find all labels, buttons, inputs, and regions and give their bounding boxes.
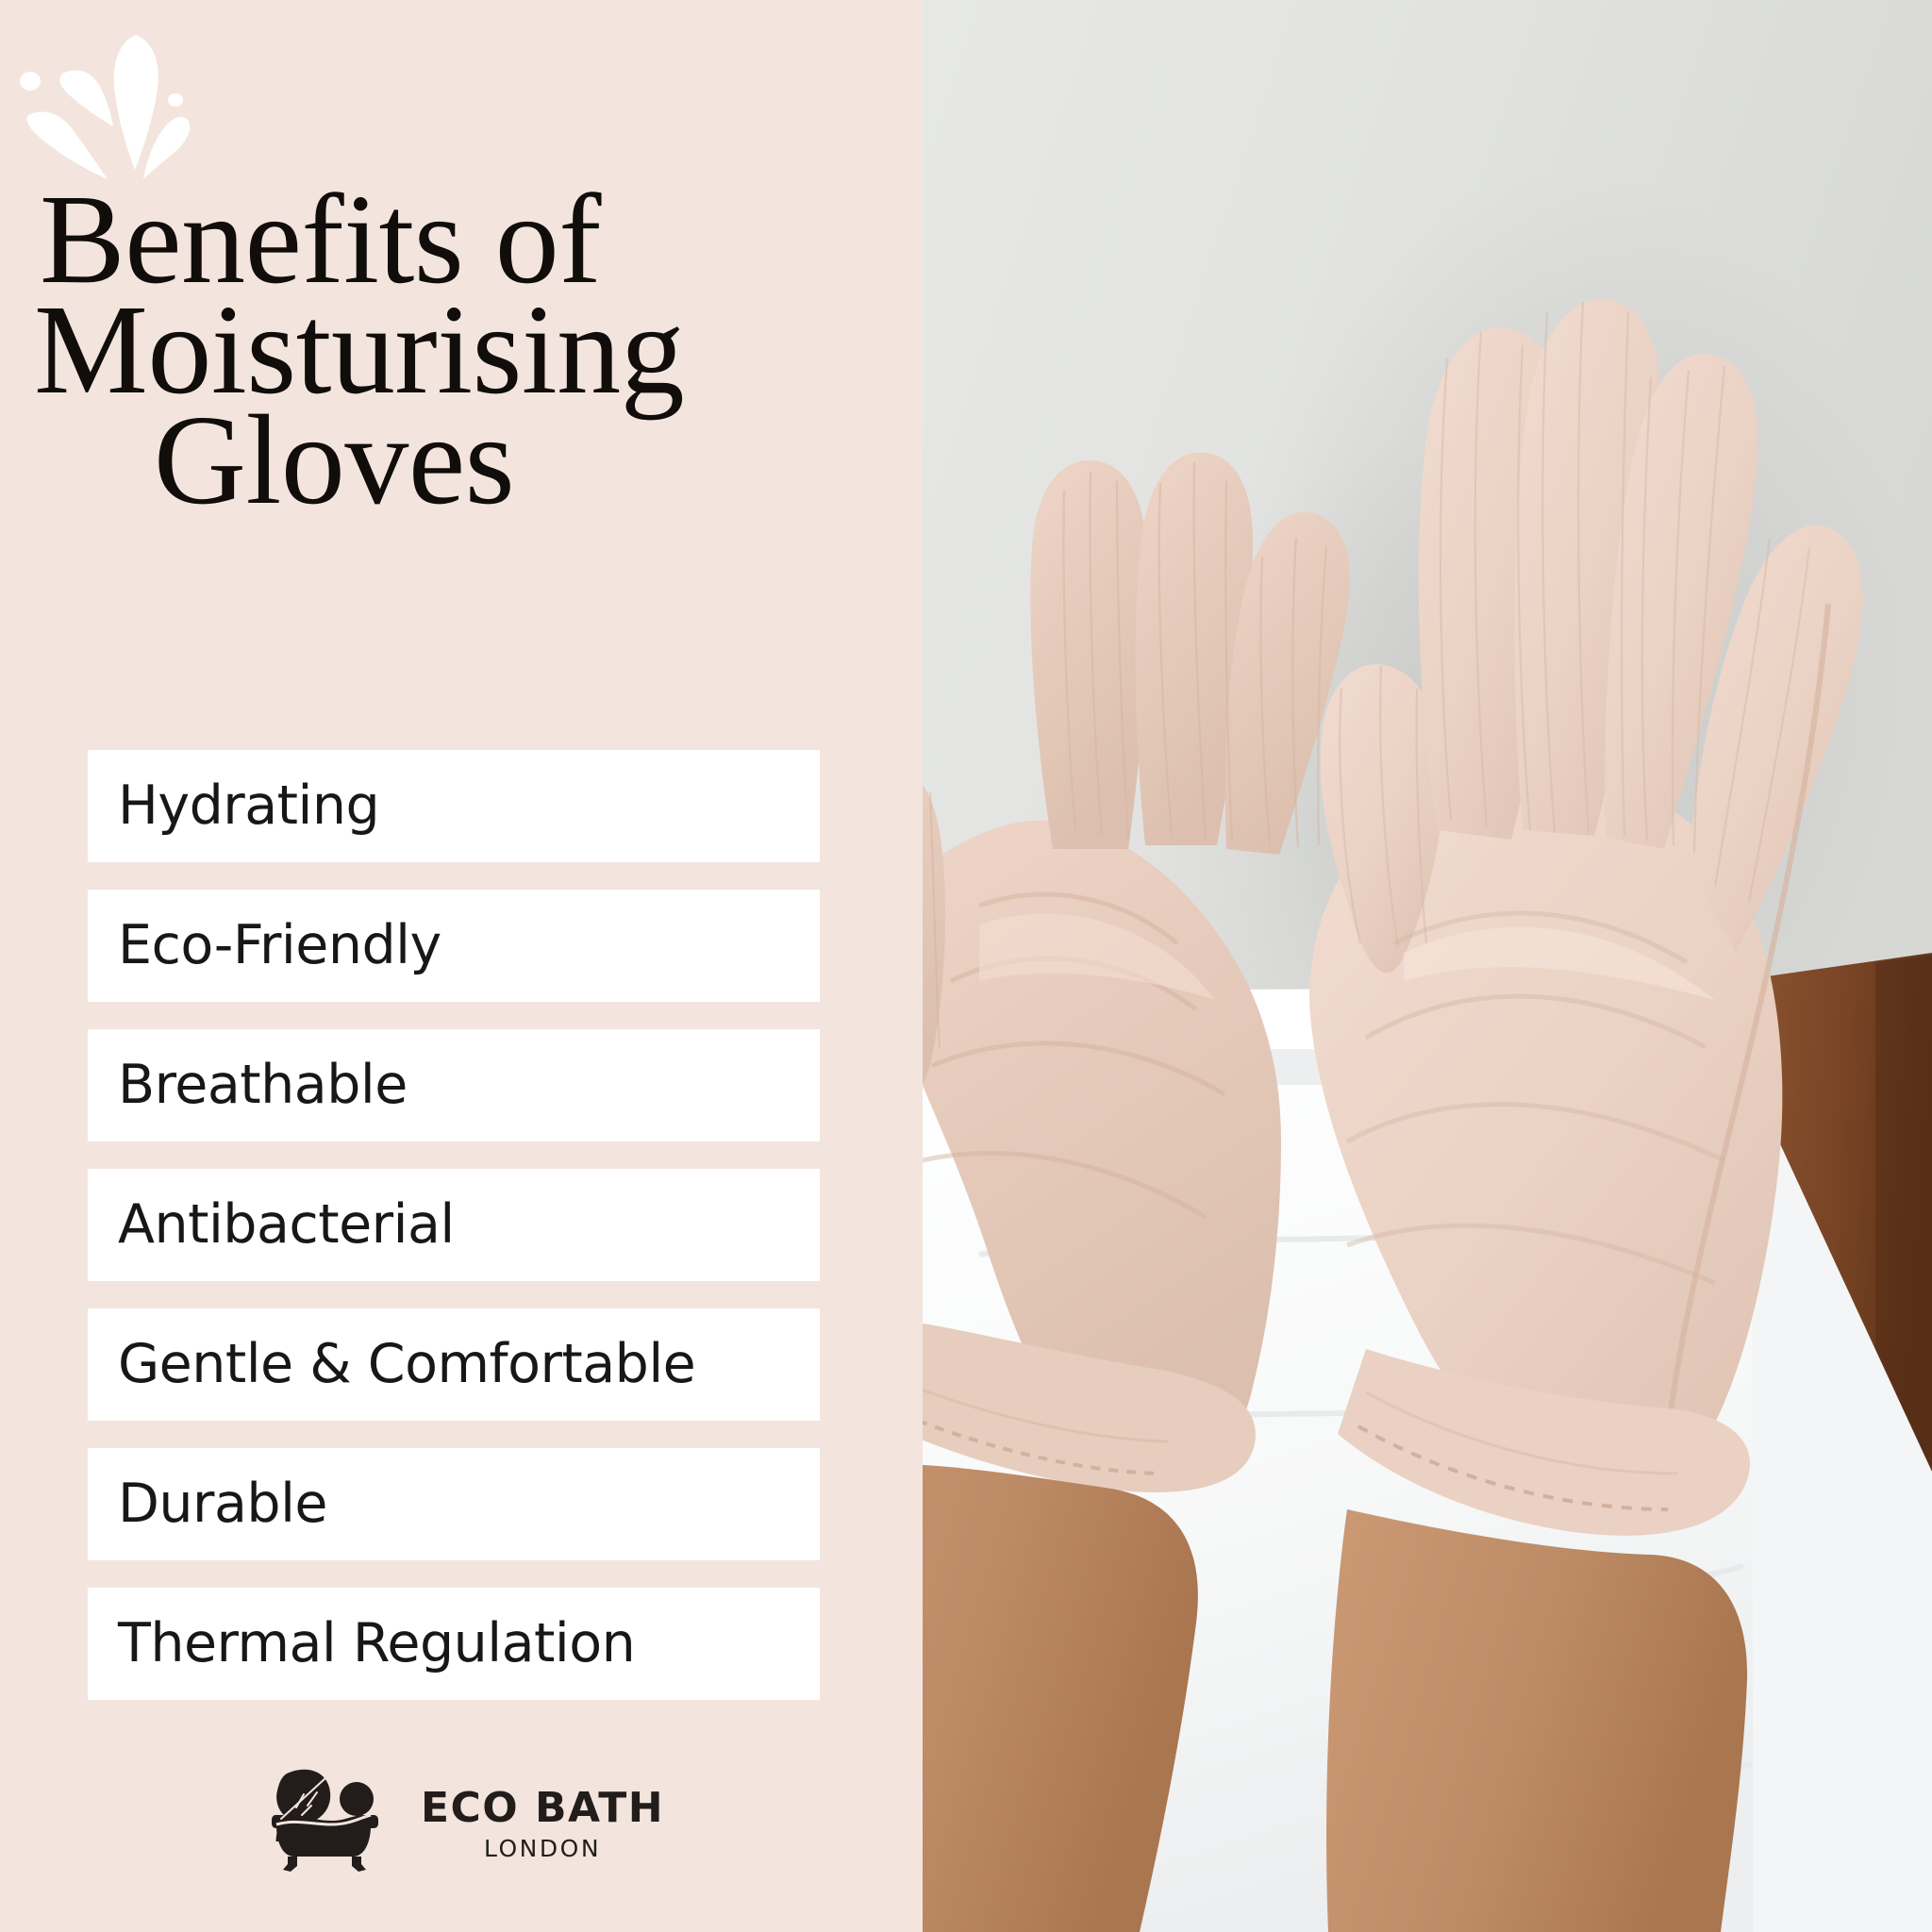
- benefits-list: Hydrating Eco-Friendly Breathable Antiba…: [88, 750, 820, 1727]
- bathtub-leaf-icon: [258, 1766, 400, 1881]
- splash-droplets-icon: [13, 9, 230, 179]
- left-content-panel: Benefits of Moisturising Gloves Hydratin…: [0, 0, 923, 1932]
- logo-wordmark: ECO BATH LONDON: [421, 1788, 664, 1860]
- benefit-label: Gentle & Comfortable: [118, 1338, 695, 1391]
- benefit-label: Eco-Friendly: [118, 919, 441, 973]
- benefit-item-5[interactable]: Durable: [88, 1448, 820, 1560]
- benefit-item-0[interactable]: Hydrating: [88, 750, 820, 862]
- benefit-item-4[interactable]: Gentle & Comfortable: [88, 1308, 820, 1421]
- benefit-label: Durable: [118, 1477, 327, 1531]
- benefit-item-6[interactable]: Thermal Regulation: [88, 1588, 820, 1700]
- hands-wearing-moisturising-gloves-photo: [923, 0, 1932, 1932]
- logo-city-name: LONDON: [484, 1837, 601, 1860]
- poster-canvas: Benefits of Moisturising Gloves Hydratin…: [0, 0, 1932, 1932]
- brand-logo[interactable]: ECO BATH LONDON: [0, 1766, 923, 1881]
- logo-brand-name: ECO BATH: [421, 1788, 664, 1829]
- benefit-item-2[interactable]: Breathable: [88, 1029, 820, 1141]
- benefit-label: Breathable: [118, 1058, 408, 1112]
- page-title: Benefits of Moisturising Gloves: [32, 185, 749, 516]
- benefit-label: Hydrating: [118, 779, 379, 833]
- benefit-label: Thermal Regulation: [118, 1617, 635, 1671]
- benefit-item-3[interactable]: Antibacterial: [88, 1169, 820, 1281]
- title-line-3: Gloves: [32, 406, 749, 516]
- benefit-label: Antibacterial: [118, 1198, 455, 1252]
- benefit-item-1[interactable]: Eco-Friendly: [88, 890, 820, 1002]
